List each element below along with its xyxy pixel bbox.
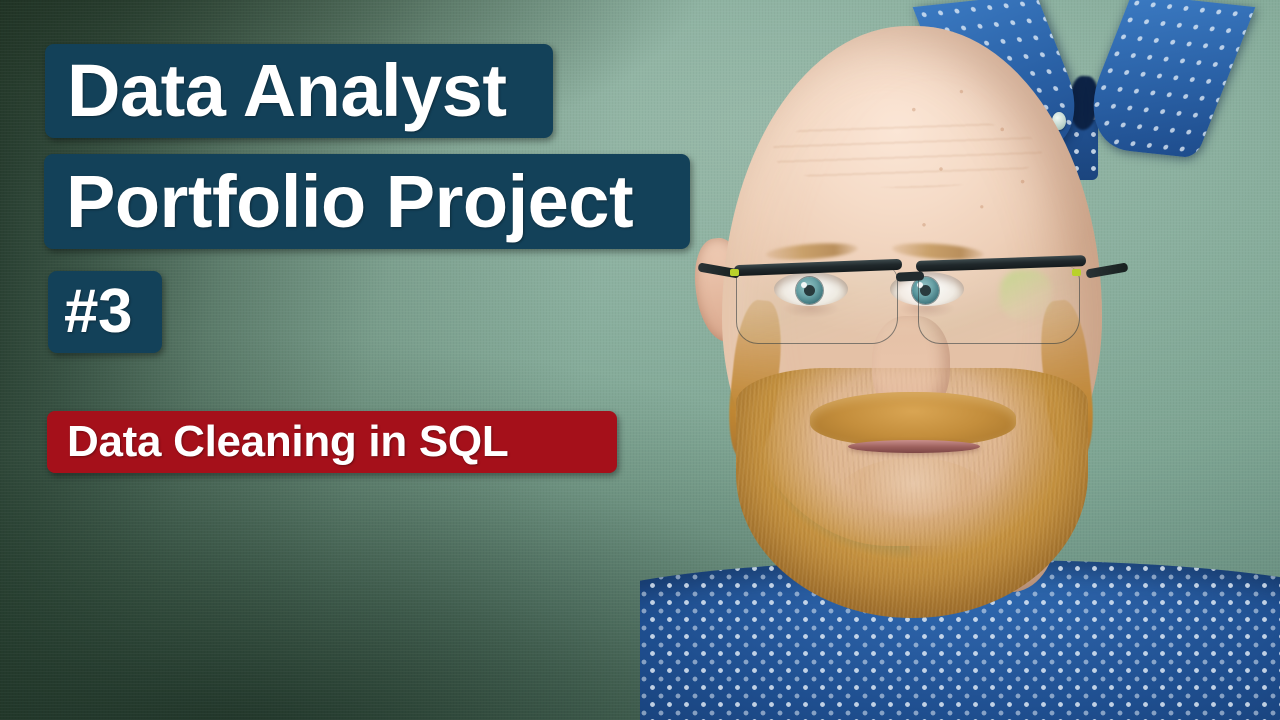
glasses-bridge (896, 271, 924, 281)
subtitle-text: Data Cleaning in SQL (67, 419, 508, 465)
glasses-temple-right (1086, 262, 1129, 278)
glasses-accent-right (1072, 269, 1081, 276)
title-badge-line-2: Portfolio Project (44, 154, 690, 249)
title-line-2-text: Portfolio Project (66, 164, 633, 240)
forehead-freckles (890, 70, 1060, 250)
collar-dot-pattern-right (1073, 0, 1256, 158)
title-line-1-text: Data Analyst (67, 53, 507, 129)
chin-highlight (826, 458, 1002, 574)
episode-number-badge: #3 (48, 271, 162, 353)
lens-right (918, 266, 1080, 344)
episode-number-text: #3 (64, 280, 132, 344)
lens-left (736, 266, 898, 344)
lens-reflection (1000, 270, 1052, 320)
presenter-portrait (640, 0, 1280, 720)
youtube-thumbnail: Data Analyst Portfolio Project #3 Data C… (0, 0, 1280, 720)
moustache (810, 392, 1016, 446)
title-badge-line-1: Data Analyst (45, 44, 553, 138)
eyeglasses (700, 250, 1136, 380)
glasses-accent-left (730, 269, 739, 276)
subtitle-badge: Data Cleaning in SQL (47, 411, 617, 473)
shirt-collar-right (1073, 0, 1256, 158)
mouth (848, 440, 980, 453)
